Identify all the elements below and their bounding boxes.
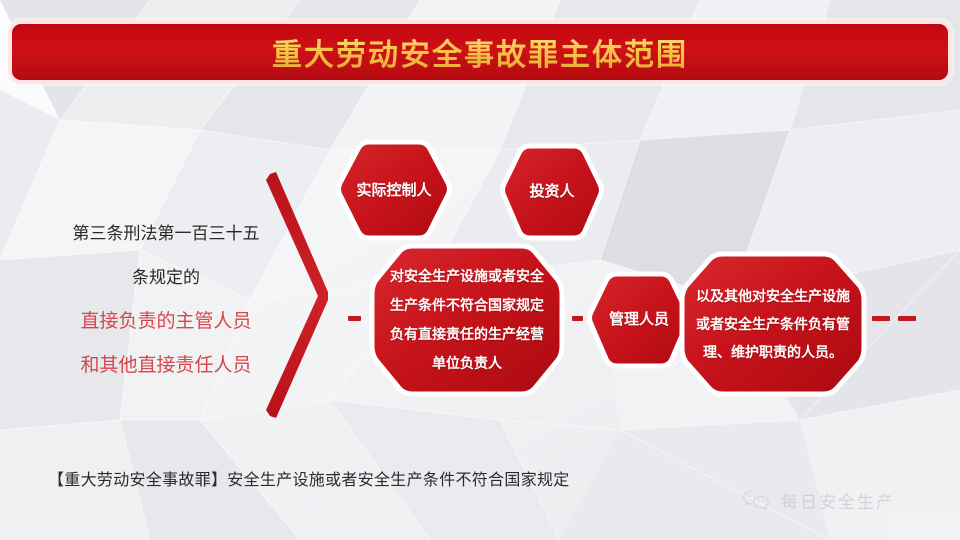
- node-actual-controller[interactable]: 实际控制人: [336, 136, 452, 246]
- connector-dash-left: [348, 316, 361, 321]
- footer-caption: 【重大劳动安全事故罪】安全生产设施或者安全生产条件不符合国家规定: [48, 466, 570, 490]
- left-line-4-highlight: 和其他直接责任人员: [46, 344, 286, 388]
- chevron-right-icon: [262, 170, 342, 420]
- left-line-2: 条规定的: [46, 256, 286, 300]
- watermark-text: 每日安全生产: [781, 488, 895, 513]
- node-label: 管理人员: [609, 312, 669, 328]
- connector-dash-mid: [572, 316, 583, 321]
- slide-title-bar: 重大劳动安全事故罪主体范围: [12, 24, 948, 80]
- page-title: 重大劳动安全事故罪主体范围: [272, 30, 688, 74]
- connector-dash-right-1: [872, 316, 890, 321]
- node-manager[interactable]: 管理人员: [587, 268, 691, 372]
- node-responsible-person[interactable]: 对安全生产设施或者安全生产条件不符合国家规定负有直接责任的生产经营单位负责人: [368, 240, 566, 400]
- node-label: 实际控制人: [356, 183, 431, 199]
- watermark: 每日安全生产: [742, 488, 895, 513]
- node-investor[interactable]: 投资人: [500, 140, 604, 244]
- connector-dash-right-2: [898, 316, 916, 321]
- node-label: 投资人: [529, 184, 574, 200]
- node-label: 以及其他对安全生产设施或者安全生产条件负有管理、维护职责的人员。: [696, 282, 850, 366]
- wechat-icon: [742, 489, 772, 513]
- left-description-block: 第三条刑法第一百三十五 条规定的 直接负责的主管人员 和其他直接责任人员: [46, 212, 286, 388]
- left-line-1: 第三条刑法第一百三十五: [46, 212, 286, 256]
- node-other-personnel[interactable]: 以及其他对安全生产设施或者安全生产条件负有管理、维护职责的人员。: [678, 248, 868, 400]
- node-label: 对安全生产设施或者安全生产条件不符合国家规定负有直接责任的生产经营单位负责人: [387, 262, 547, 378]
- slide-canvas: 重大劳动安全事故罪主体范围 第三条刑法第一百三十五 条规定的 直接负责的主管人员…: [0, 0, 960, 540]
- left-line-3-highlight: 直接负责的主管人员: [46, 300, 286, 344]
